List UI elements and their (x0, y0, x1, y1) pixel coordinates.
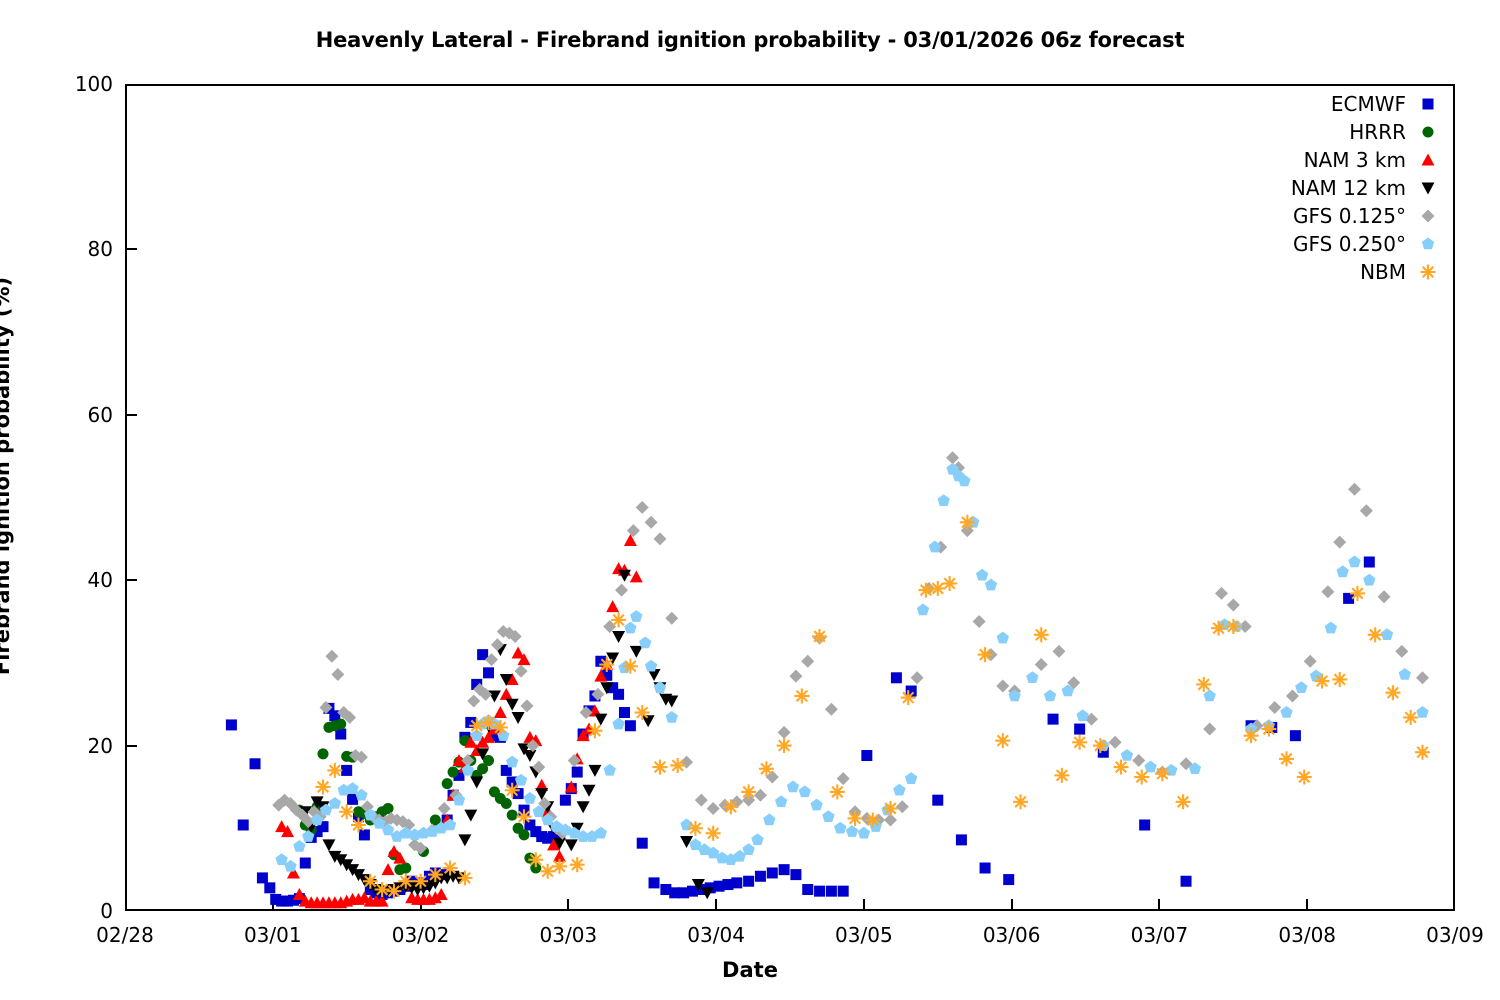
legend-item-hrrr[interactable]: HRRR (1150, 120, 1450, 148)
legend-marker-triangle-up-icon (1418, 150, 1438, 170)
chart-title: Heavenly Lateral - Firebrand ignition pr… (0, 28, 1500, 52)
y-tick-label: 20 (43, 734, 113, 758)
legend-label: NAM 12 km (1291, 176, 1406, 200)
x-tick-label: 03/01 (213, 923, 333, 947)
x-axis-label: Date (0, 958, 1500, 982)
y-tick-label: 80 (43, 237, 113, 261)
x-tick-label: 03/07 (1099, 923, 1219, 947)
x-tick-label: 03/02 (361, 923, 481, 947)
legend-label: NAM 3 km (1304, 148, 1406, 172)
legend-marker-asterisk-icon (1418, 262, 1438, 282)
y-tick-label: 100 (43, 72, 113, 96)
legend-marker-pentagon-icon (1418, 234, 1438, 254)
legend-item-gfs-0-250[interactable]: GFS 0.250° (1150, 232, 1450, 260)
y-axis-label: Firebrand ignition probability (%) (0, 1, 14, 951)
y-tick-label: 40 (43, 568, 113, 592)
x-tick-label: 03/04 (656, 923, 776, 947)
x-tick-label: 03/09 (1395, 923, 1500, 947)
x-tick-label: 02/28 (65, 923, 185, 947)
legend-label: HRRR (1349, 120, 1406, 144)
legend-label: ECMWF (1331, 92, 1406, 116)
y-tick-label: 60 (43, 403, 113, 427)
x-tick-label: 03/05 (804, 923, 924, 947)
legend-label: GFS 0.125° (1293, 204, 1406, 228)
legend-marker-square-icon (1418, 94, 1438, 114)
legend-marker-triangle-down-icon (1418, 178, 1438, 198)
legend-item-nbm[interactable]: NBM (1150, 260, 1450, 288)
legend-marker-circle-icon (1418, 122, 1438, 142)
x-tick-label: 03/03 (508, 923, 628, 947)
chart-root: Heavenly Lateral - Firebrand ignition pr… (0, 0, 1500, 1000)
legend-item-ecmwf[interactable]: ECMWF (1150, 92, 1450, 120)
x-tick-label: 03/08 (1247, 923, 1367, 947)
legend-item-nam-3-km[interactable]: NAM 3 km (1150, 148, 1450, 176)
chart-legend: ECMWFHRRRNAM 3 kmNAM 12 kmGFS 0.125°GFS … (1150, 92, 1450, 288)
legend-label: NBM (1360, 260, 1406, 284)
series-gfs125 (272, 451, 1429, 854)
y-tick-label: 0 (43, 899, 113, 923)
legend-label: GFS 0.250° (1293, 232, 1406, 256)
legend-item-gfs-0-125[interactable]: GFS 0.125° (1150, 204, 1450, 232)
legend-marker-diamond-icon (1418, 206, 1438, 226)
legend-item-nam-12-km[interactable]: NAM 12 km (1150, 176, 1450, 204)
x-tick-label: 03/06 (952, 923, 1072, 947)
series-nbm (316, 515, 1430, 899)
